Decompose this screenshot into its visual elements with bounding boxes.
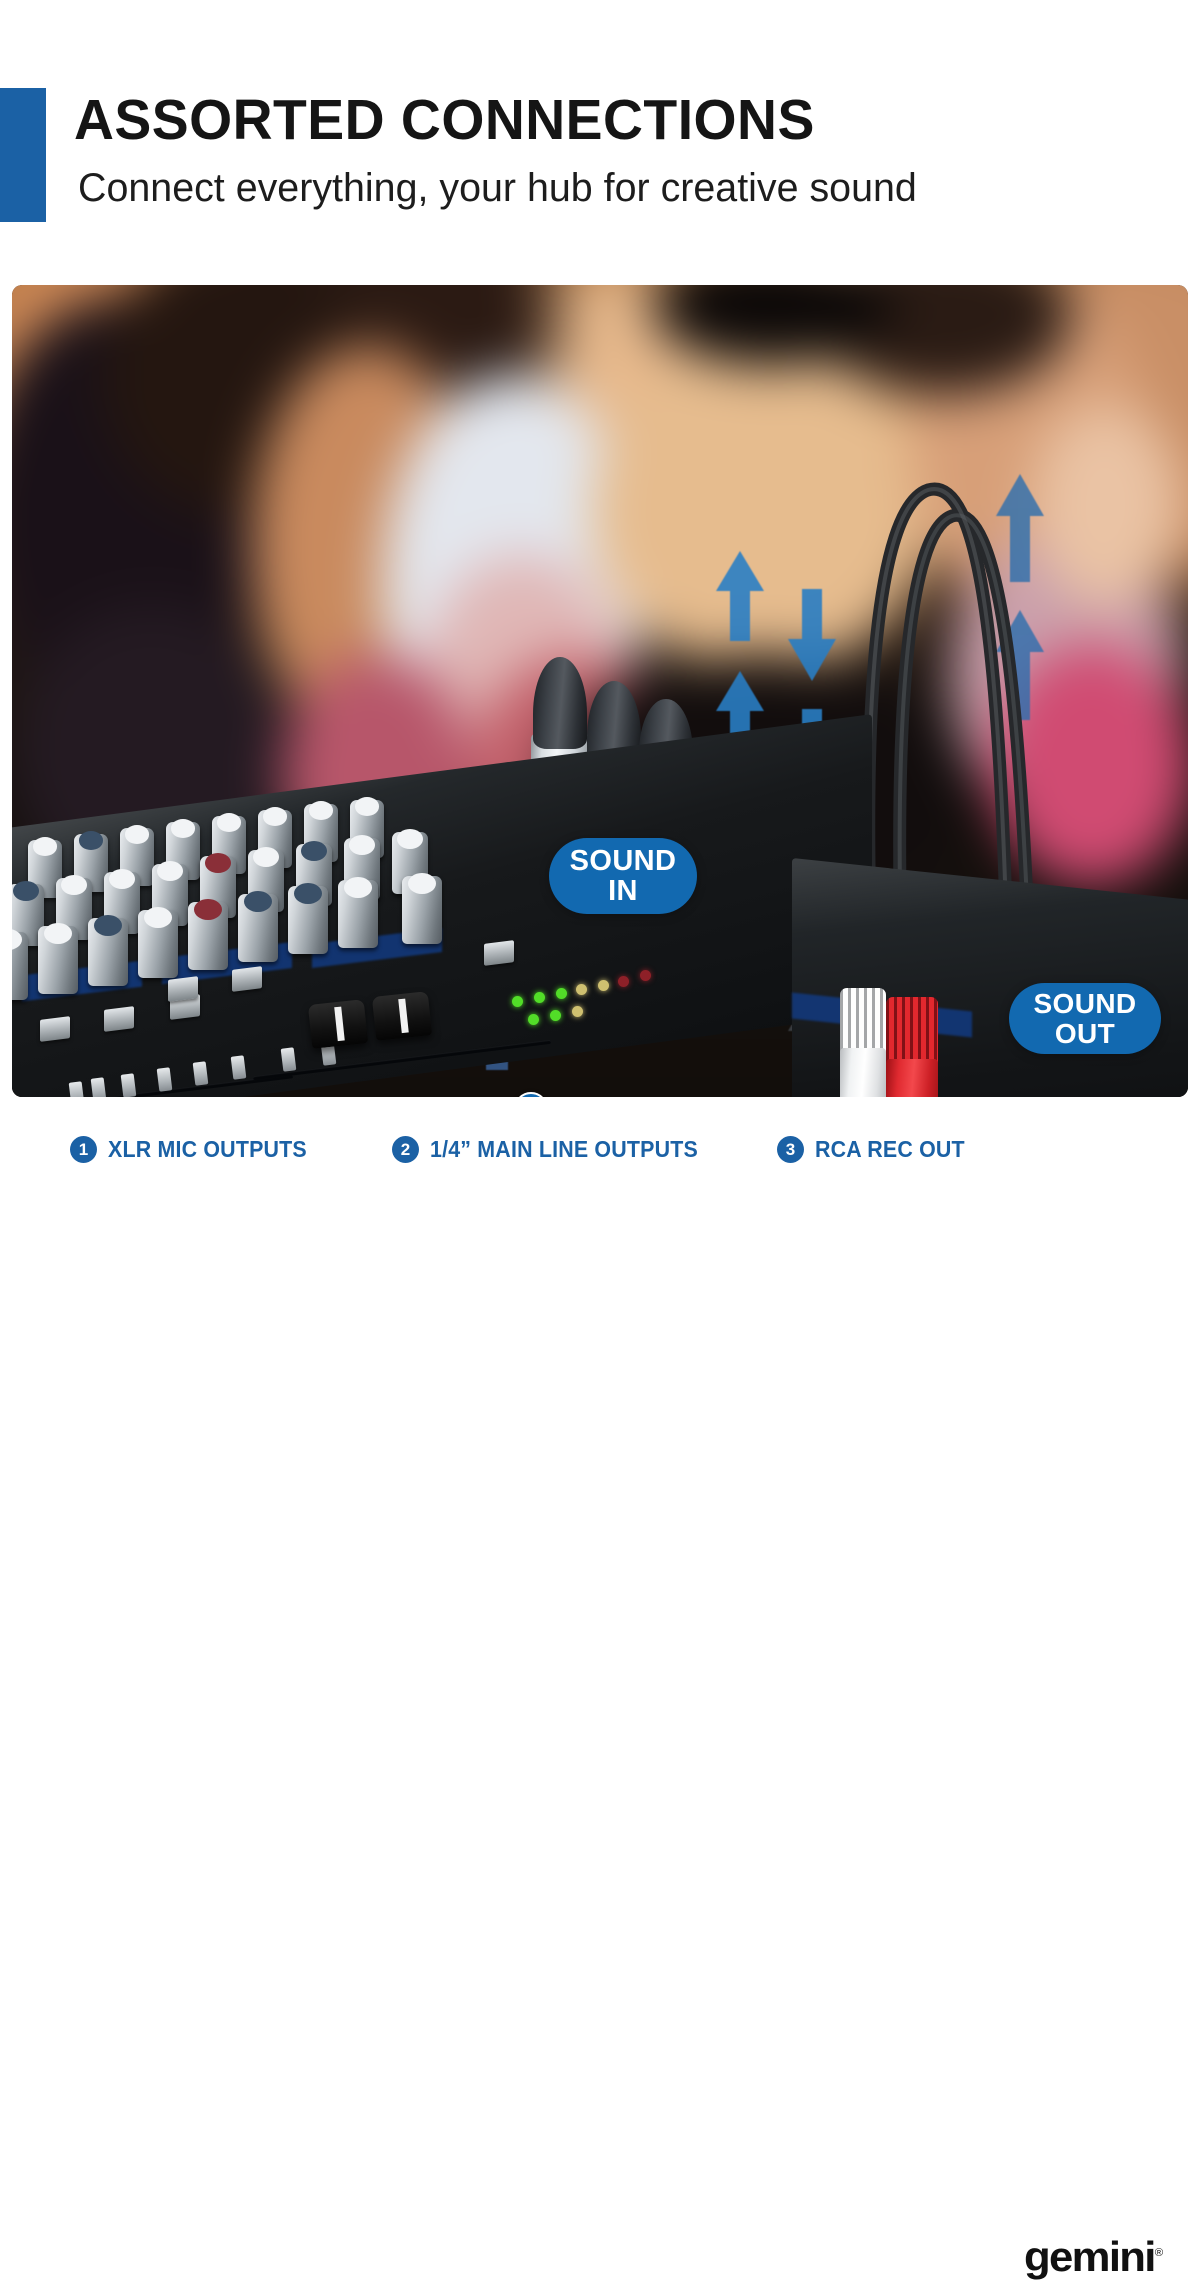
master-fader[interactable] bbox=[308, 999, 368, 1049]
legend-number-2: 2 bbox=[392, 1136, 419, 1163]
rca-ribbed-grip bbox=[840, 988, 886, 1056]
channel-switch[interactable] bbox=[40, 1016, 70, 1042]
page-header: ASSORTED CONNECTIONS Connect everything,… bbox=[0, 0, 1200, 285]
badge-sound-in-line1: SOUND bbox=[570, 846, 677, 876]
xlr-neck bbox=[533, 657, 586, 749]
page-subtitle: Connect everything, your hub for creativ… bbox=[78, 168, 917, 208]
master-fader[interactable] bbox=[372, 991, 432, 1041]
level-led bbox=[528, 1014, 539, 1025]
level-led bbox=[534, 992, 545, 1003]
legend-label-3: RCA REC OUT bbox=[815, 1136, 965, 1163]
rca-barrel bbox=[840, 1048, 886, 1097]
level-led bbox=[640, 970, 651, 981]
fader-handle[interactable] bbox=[281, 1047, 297, 1071]
page-title: ASSORTED CONNECTIONS bbox=[74, 92, 815, 149]
legend-item-rca-rec-out: 3 RCA REC OUT bbox=[777, 1136, 976, 1163]
level-led bbox=[512, 996, 523, 1007]
rotary-knob[interactable] bbox=[188, 902, 228, 970]
rotary-knob[interactable] bbox=[238, 894, 278, 962]
badge-sound-out-line1: SOUND bbox=[1033, 989, 1136, 1018]
channel-switch[interactable] bbox=[232, 966, 262, 992]
level-led bbox=[598, 980, 609, 991]
level-led bbox=[572, 1006, 583, 1017]
brand-name: gemini bbox=[1024, 2233, 1155, 2280]
badge-sound-out-line2: OUT bbox=[1033, 1019, 1136, 1048]
channel-switch[interactable] bbox=[168, 976, 198, 1002]
rotary-knob[interactable] bbox=[138, 910, 178, 978]
rca-plug-white bbox=[840, 988, 886, 1097]
product-photo: SOUND IN SOUND OUT 1 2 3 bbox=[12, 285, 1188, 1097]
mixing-console bbox=[12, 790, 1188, 1097]
fader-handle[interactable] bbox=[121, 1073, 137, 1097]
legend-item-main-line-outputs: 2 1/4” MAIN LINE OUTPUTS bbox=[392, 1136, 718, 1163]
level-led bbox=[556, 988, 567, 999]
fader-handle[interactable] bbox=[157, 1067, 173, 1091]
rotary-knob[interactable] bbox=[12, 932, 28, 1000]
legend-number-3: 3 bbox=[777, 1136, 804, 1163]
legend-item-xlr-mic-outputs: 1 XLR MIC OUTPUTS bbox=[70, 1136, 322, 1163]
rotary-knob[interactable] bbox=[402, 876, 442, 944]
fader-handle[interactable] bbox=[91, 1077, 107, 1097]
legend-bar: 1 XLR MIC OUTPUTS 2 1/4” MAIN LINE OUTPU… bbox=[0, 1110, 1200, 1200]
badge-sound-in-line2: IN bbox=[570, 876, 677, 906]
fader-handle[interactable] bbox=[193, 1061, 209, 1085]
rotary-knob[interactable] bbox=[338, 880, 378, 948]
fader-handle[interactable] bbox=[231, 1055, 247, 1079]
brand-logo: gemini® bbox=[1024, 2236, 1163, 2278]
brand-trademark-icon: ® bbox=[1155, 2247, 1163, 2259]
rca-plug-red bbox=[886, 997, 938, 1097]
level-led bbox=[550, 1010, 561, 1021]
legend-label-1: XLR MIC OUTPUTS bbox=[108, 1136, 307, 1163]
header-accent-bar bbox=[0, 88, 46, 222]
rca-ribbed-grip bbox=[886, 997, 938, 1067]
badge-sound-out: SOUND OUT bbox=[1009, 983, 1161, 1054]
legend-label-2: 1/4” MAIN LINE OUTPUTS bbox=[430, 1136, 698, 1163]
rotary-knob[interactable] bbox=[288, 886, 328, 954]
rotary-knob[interactable] bbox=[88, 918, 128, 986]
legend-number-1: 1 bbox=[70, 1136, 97, 1163]
channel-switch[interactable] bbox=[484, 940, 514, 966]
rotary-knob[interactable] bbox=[38, 926, 78, 994]
rca-barrel bbox=[886, 1059, 938, 1097]
level-led bbox=[576, 984, 587, 995]
level-led bbox=[618, 976, 629, 987]
channel-switch[interactable] bbox=[104, 1006, 134, 1032]
badge-sound-in: SOUND IN bbox=[549, 838, 697, 914]
